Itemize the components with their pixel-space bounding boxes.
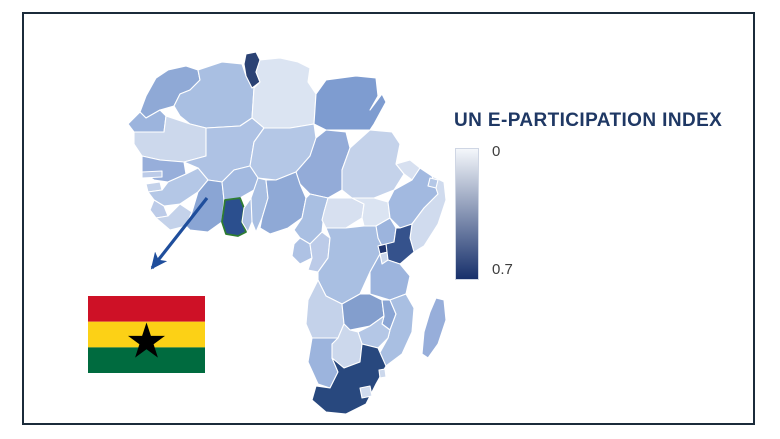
country-madagascar[interactable] (422, 298, 446, 358)
country-gambia[interactable] (142, 171, 162, 178)
country-egypt[interactable] (314, 76, 386, 130)
country-sudan[interactable] (342, 130, 404, 198)
slide-frame: UN E-PARTICIPATION INDEX 0 0.7 (22, 12, 755, 425)
legend-body: 0 0.7 (452, 144, 752, 289)
ghana-flag-svg (88, 296, 205, 373)
country-lesotho[interactable] (360, 386, 372, 398)
country-eswatini[interactable] (379, 369, 386, 378)
legend-tick-min-value: 0 (492, 144, 500, 160)
slide-canvas: UN E-PARTICIPATION INDEX 0 0.7 (0, 0, 780, 439)
legend-colorbar[interactable] (455, 148, 479, 280)
legend-colorbar-gradient (456, 149, 478, 279)
country-central-african-republic[interactable] (322, 198, 364, 228)
map-legend: UN E-PARTICIPATION INDEX 0 0.7 (452, 110, 752, 289)
flag-stripe-red (88, 296, 205, 322)
flag-stripe-green (88, 347, 205, 373)
country-libya[interactable] (252, 58, 316, 128)
country-djibouti[interactable] (428, 178, 438, 188)
legend-tick-max-value: 0.7 (492, 262, 513, 278)
legend-title: UN E-PARTICIPATION INDEX (454, 110, 752, 132)
ghana-flag (88, 296, 205, 373)
